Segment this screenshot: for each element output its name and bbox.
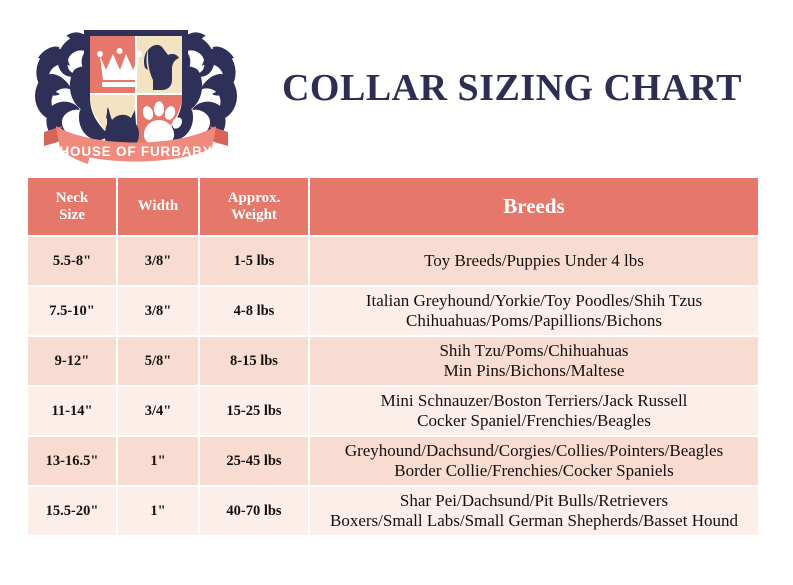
neck-size-label-line2: Size [59, 207, 85, 223]
cell-weight: 40-70 lbs [200, 487, 310, 537]
table-row: 15.5-20" 1" 40-70 lbs Shar Pei/Dachsund/… [28, 487, 758, 537]
cell-breeds: Shih Tzu/Poms/Chihuahuas Min Pins/Bichon… [310, 337, 758, 387]
page-header: HOUSE OF FURBABY COLLAR SIZING CHART [0, 0, 793, 178]
table-row: 9-12" 5/8" 8-15 lbs Shih Tzu/Poms/Chihua… [28, 337, 758, 387]
column-header-breeds: Breeds [310, 178, 758, 237]
weight-label-line1: Approx. [228, 190, 281, 206]
breed-line: Italian Greyhound/Yorkie/Toy Poodles/Shi… [312, 291, 756, 311]
table-row: 5.5-8" 3/8" 1-5 lbs Toy Breeds/Puppies U… [28, 237, 758, 287]
cell-breeds: Mini Schnauzer/Boston Terriers/Jack Russ… [310, 387, 758, 437]
weight-label-line2: Weight [231, 207, 277, 223]
cell-width: 3/8" [118, 287, 200, 337]
column-header-width: Width [118, 178, 200, 237]
breed-line: Toy Breeds/Puppies Under 4 lbs [312, 251, 756, 271]
collar-sizing-table: Neck Size Width Approx. Weight Breeds 5.… [28, 178, 758, 537]
cell-neck-size: 15.5-20" [28, 487, 118, 537]
breed-line: Min Pins/Bichons/Maltese [312, 361, 756, 381]
cell-weight: 8-15 lbs [200, 337, 310, 387]
breed-line: Shar Pei/Dachsund/Pit Bulls/Retrievers [312, 491, 756, 511]
house-of-furbaby-logo: HOUSE OF FURBABY [22, 14, 250, 166]
cell-neck-size: 9-12" [28, 337, 118, 387]
cell-weight: 4-8 lbs [200, 287, 310, 337]
column-header-weight: Approx. Weight [200, 178, 310, 237]
breed-line: Mini Schnauzer/Boston Terriers/Jack Russ… [312, 391, 756, 411]
breed-line: Shih Tzu/Poms/Chihuahuas [312, 341, 756, 361]
breed-line: Cocker Spaniel/Frenchies/Beagles [312, 411, 756, 431]
column-header-neck-size: Neck Size [28, 178, 118, 237]
cell-width: 3/4" [118, 387, 200, 437]
neck-size-label-line1: Neck [56, 190, 89, 206]
ribbon-text: HOUSE OF FURBABY [59, 144, 212, 159]
table-row: 11-14" 3/4" 15-25 lbs Mini Schnauzer/Bos… [28, 387, 758, 437]
cell-width: 1" [118, 437, 200, 487]
cell-breeds: Italian Greyhound/Yorkie/Toy Poodles/Shi… [310, 287, 758, 337]
breed-line: Greyhound/Dachsund/Corgies/Collies/Point… [312, 441, 756, 461]
cell-breeds: Toy Breeds/Puppies Under 4 lbs [310, 237, 758, 287]
page-title: COLLAR SIZING CHART [262, 66, 762, 110]
cell-neck-size: 7.5-10" [28, 287, 118, 337]
cell-weight: 25-45 lbs [200, 437, 310, 487]
cell-width: 3/8" [118, 237, 200, 287]
cell-width: 5/8" [118, 337, 200, 387]
table-header: Neck Size Width Approx. Weight Breeds [28, 178, 758, 237]
cell-weight: 1-5 lbs [200, 237, 310, 287]
table-body: 5.5-8" 3/8" 1-5 lbs Toy Breeds/Puppies U… [28, 237, 758, 537]
breed-line: Chihuahuas/Poms/Papillions/Bichons [312, 311, 756, 331]
breed-line: Boxers/Small Labs/Small German Shepherds… [312, 511, 756, 531]
cell-neck-size: 5.5-8" [28, 237, 118, 287]
cell-weight: 15-25 lbs [200, 387, 310, 437]
table-header-row: Neck Size Width Approx. Weight Breeds [28, 178, 758, 237]
breed-line: Border Collie/Frenchies/Cocker Spaniels [312, 461, 756, 481]
table-row: 7.5-10" 3/8" 4-8 lbs Italian Greyhound/Y… [28, 287, 758, 337]
cell-neck-size: 13-16.5" [28, 437, 118, 487]
cell-neck-size: 11-14" [28, 387, 118, 437]
cell-width: 1" [118, 487, 200, 537]
table-row: 13-16.5" 1" 25-45 lbs Greyhound/Dachsund… [28, 437, 758, 487]
cell-breeds: Greyhound/Dachsund/Corgies/Collies/Point… [310, 437, 758, 487]
cell-breeds: Shar Pei/Dachsund/Pit Bulls/Retrievers B… [310, 487, 758, 537]
